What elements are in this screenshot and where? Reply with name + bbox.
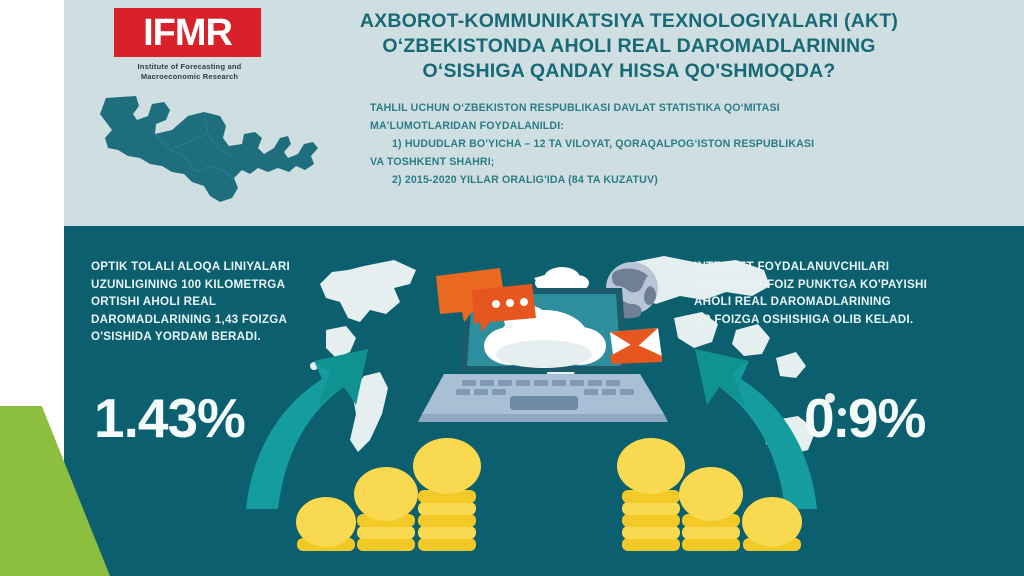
title-line-2: O‘ZBEKISTONDA AHOLI REAL DAROMADLARINING [244, 34, 1014, 59]
uzbekistan-map-icon [92, 94, 332, 216]
left-text-line-3: ORTISHI AHOLI REAL [91, 293, 401, 311]
right-text-line-1: INTERNET FOYDALANUVCHILARI [694, 258, 1014, 276]
coin-stack-2 [354, 467, 418, 551]
left-text-line-2: UZUNLIGINING 100 KILOMETRGA [91, 276, 401, 294]
left-text-line-1: OPTIK TOLALI ALOQA LINIYALARI [91, 258, 401, 276]
bullet-1-line-2: VA TOSHKENT SHAHRI; [370, 154, 1020, 171]
small-cloud-icon [535, 267, 589, 291]
title-line-1: AXBOROT-KOMMUNIKATSIYA TEXNOLOGIYALARI (… [244, 9, 1014, 34]
bullet-2: 2) 2015-2020 YILLAR ORALIG'IDA (84 TA KU… [370, 172, 1020, 189]
infographic-slide: IFMR Institute of Forecasting and Macroe… [0, 0, 1024, 576]
coin-stack-1 [617, 438, 685, 551]
intro-line-2: MA'LUMOTLARIDAN FOYDALANILDI: [370, 118, 1020, 135]
right-text-line-2: SONINING 1 FOIZ PUNKTGA KO'PAYISHI [694, 276, 1014, 294]
header-panel: IFMR Institute of Forecasting and Macroe… [64, 0, 1024, 226]
right-stat-value: 0.9% [804, 391, 925, 446]
bullet-1-line-1: 1) HUDUDLAR BO'YICHA – 12 TA VILOYAT, QO… [370, 136, 1020, 153]
logo-text: IFMR [143, 14, 232, 52]
coin-stack-3 [413, 438, 481, 551]
methodology-note: TAHLIL UCHUN O‘ZBEKISTON RESPUBLIKASI DA… [370, 100, 1020, 190]
laptop-cloud-illustration [414, 246, 684, 446]
main-panel: OPTIK TOLALI ALOQA LINIYALARI UZUNLIGINI… [64, 226, 1024, 576]
coin-stack-1 [296, 497, 356, 551]
title-line-3: O‘SISHIGA QANDAY HISSA QO'SHMOQDA? [244, 59, 1014, 84]
laptop-base [418, 374, 668, 422]
left-stat-value: 1.43% [94, 391, 245, 446]
ascending-coin-stacks-icon [279, 426, 494, 566]
coin-stack-2 [679, 467, 743, 551]
right-text-line-3: AHOLI REAL DAROMADLARINING [694, 293, 1014, 311]
intro-line-1: TAHLIL UCHUN O‘ZBEKISTON RESPUBLIKASI DA… [370, 100, 1020, 117]
page-title: AXBOROT-KOMMUNIKATSIYA TEXNOLOGIYALARI (… [244, 9, 1014, 84]
envelope-icon [610, 328, 662, 364]
coin-stack-3 [742, 497, 802, 551]
right-stat-description: INTERNET FOYDALANUVCHILARI SONINING 1 FO… [694, 258, 1014, 328]
descending-coin-stacks-icon [604, 426, 819, 566]
ifmr-logo-mark: IFMR [114, 8, 261, 57]
